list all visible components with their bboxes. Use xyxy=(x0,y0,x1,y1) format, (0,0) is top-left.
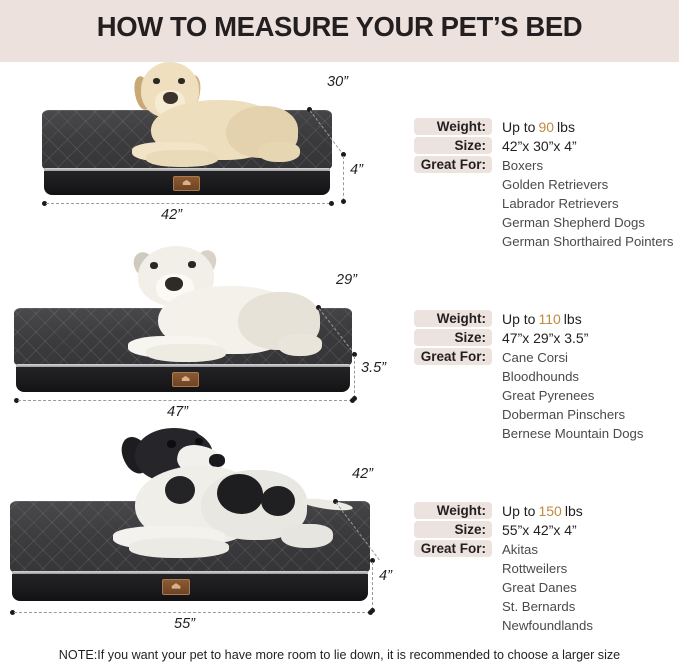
spec-size-3: Size: 55”x 42”x 4” xyxy=(414,521,674,540)
spec-panel-3: Weight: Up to150lbs Size: 55”x 42”x 4” G… xyxy=(414,502,674,635)
breed-item: Golden Retrievers xyxy=(502,175,679,194)
dim-line-height-3 xyxy=(372,562,373,610)
breed-item: Newfoundlands xyxy=(502,616,679,635)
dog-white-mastiff xyxy=(110,244,325,372)
spec-label-greatfor-1: Great For: xyxy=(414,156,492,173)
breed-item: Boxers xyxy=(502,156,679,175)
spec-greatfor-1: Great For: Boxers xyxy=(414,156,674,175)
spec-size-1: Size: 42”x 30”x 4” xyxy=(414,137,674,156)
spec-value-size-3: 55”x 42”x 4” xyxy=(502,521,577,538)
spec-greatfor-3: Great For: Akitas xyxy=(414,540,674,559)
spec-value-weight-2: Up to110lbs xyxy=(502,310,582,327)
dim-label-width-1: 42” xyxy=(161,207,182,223)
breed-item: Labrador Retrievers xyxy=(502,194,679,213)
spec-greatfor-2: Great For: Cane Corsi xyxy=(414,348,674,367)
spec-panel-2: Weight: Up to110lbs Size: 47”x 29”x 3.5”… xyxy=(414,310,674,443)
footer-note: NOTE:If you want your pet to have more r… xyxy=(0,648,679,662)
spec-weight-1: Weight: Up to90lbs xyxy=(414,118,674,137)
bed-base-3 xyxy=(12,574,368,601)
dim-dot-height-end-1 xyxy=(341,199,346,204)
brand-logo-tag-1 xyxy=(173,176,200,191)
spec-value-size-1: 42”x 30”x 4” xyxy=(502,137,577,154)
dim-line-width-2 xyxy=(18,400,352,401)
dim-label-height-3: 4” xyxy=(379,568,392,584)
breed-item: Great Pyrenees xyxy=(502,386,679,405)
dim-label-height-2: 3.5” xyxy=(361,360,386,376)
dim-label-depth-1: 30” xyxy=(327,74,348,90)
dog-great-dane xyxy=(105,424,345,576)
spec-value-weight-3: Up to150lbs xyxy=(502,502,583,519)
dim-dot-height-end-2 xyxy=(352,396,357,401)
breed-item: Rottweilers xyxy=(502,559,679,578)
dim-label-width-2: 47” xyxy=(167,404,188,420)
dog-labrador-retriever xyxy=(108,56,308,174)
spec-label-size-2: Size: xyxy=(414,329,492,346)
breed-item: St. Bernards xyxy=(502,597,679,616)
breed-item: Doberman Pinschers xyxy=(502,405,679,424)
dim-label-width-3: 55” xyxy=(174,616,195,632)
infographic-page: HOW TO MEASURE YOUR PET’S BED xyxy=(0,0,679,668)
spec-size-2: Size: 47”x 29”x 3.5” xyxy=(414,329,674,348)
dim-label-depth-3: 42” xyxy=(352,466,373,482)
dim-label-depth-2: 29” xyxy=(336,272,357,288)
spec-label-greatfor-2: Great For: xyxy=(414,348,492,365)
product-row-2: 47” 29” 3.5” Weight: Up to110lbs Size: 4… xyxy=(0,248,679,428)
dim-line-width-1 xyxy=(46,203,330,204)
spec-label-weight-2: Weight: xyxy=(414,310,492,327)
dim-label-height-1: 4” xyxy=(350,162,363,178)
dim-line-height-2 xyxy=(354,356,355,398)
breed-item: Cane Corsi xyxy=(502,348,679,367)
spec-value-size-2: 47”x 29”x 3.5” xyxy=(502,329,588,346)
spec-value-weight-1: Up to90lbs xyxy=(502,118,575,135)
spec-panel-1: Weight: Up to90lbs Size: 42”x 30”x 4” Gr… xyxy=(414,118,674,251)
brand-logo-tag-2 xyxy=(172,372,199,387)
product-row-3: 55” 42” 4” Weight: Up to150lbs Size: 55”… xyxy=(0,428,679,640)
breed-item: Bloodhounds xyxy=(502,367,679,386)
breed-item: Akitas xyxy=(502,540,679,559)
breed-item: Great Danes xyxy=(502,578,679,597)
dim-dot-height-end-3 xyxy=(370,608,375,613)
spec-label-greatfor-3: Great For: xyxy=(414,540,492,557)
spec-label-size-3: Size: xyxy=(414,521,492,538)
dim-line-width-3 xyxy=(14,612,370,613)
page-title: HOW TO MEASURE YOUR PET’S BED xyxy=(0,11,679,43)
spec-label-weight-1: Weight: xyxy=(414,118,492,135)
dim-line-height-1 xyxy=(343,156,344,201)
product-row-1: 42” 30” 4” Weight: Up to90lbs Size: 42”x… xyxy=(0,62,679,242)
spec-weight-2: Weight: Up to110lbs xyxy=(414,310,674,329)
spec-label-weight-3: Weight: xyxy=(414,502,492,519)
breed-item: German Shepherd Dogs xyxy=(502,213,679,232)
dim-dot-width-end-1 xyxy=(329,201,334,206)
spec-label-size-1: Size: xyxy=(414,137,492,154)
brand-logo-tag-3 xyxy=(162,579,190,595)
spec-weight-3: Weight: Up to150lbs xyxy=(414,502,674,521)
